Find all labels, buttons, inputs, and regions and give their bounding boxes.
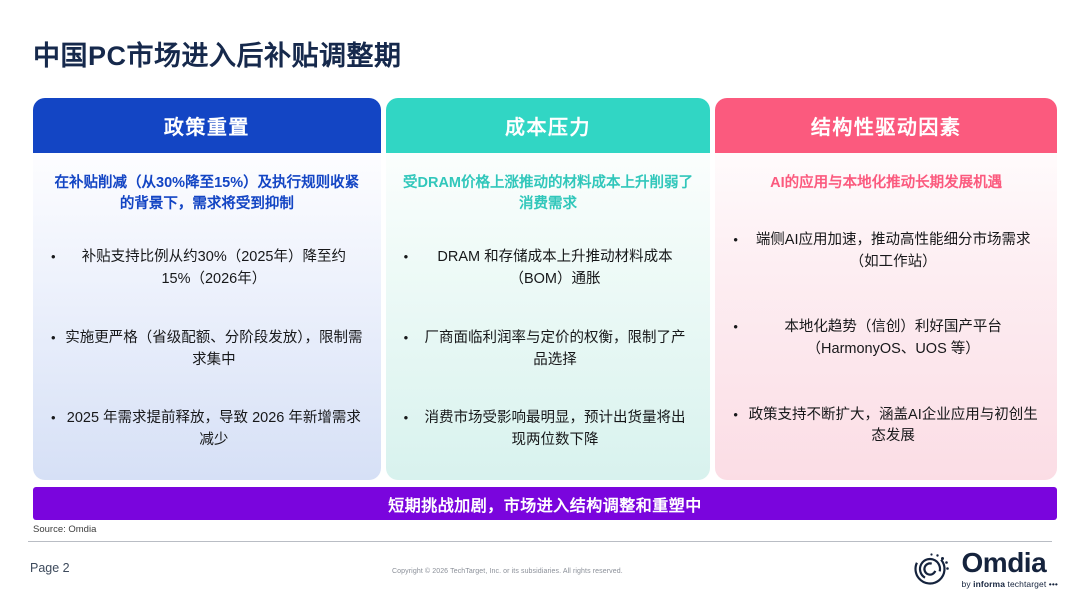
page-title: 中国PC市场进入后补贴调整期	[33, 34, 402, 73]
list-item: • 补贴支持比例从约30%（2025年）降至约15%（2026年）	[47, 247, 367, 291]
list-item: • 实施更严格（省级配额、分阶段发放），限制需求集中	[47, 328, 367, 372]
bullet-icon: •	[51, 408, 65, 428]
list-item-text: 实施更严格（省级配额、分阶段发放），限制需求集中	[65, 328, 363, 372]
list-item-text: 端侧AI应用加速，推动高性能细分市场需求（如工作站）	[747, 230, 1039, 274]
bullet-icon: •	[51, 328, 65, 348]
slide-canvas: 中国PC市场进入后补贴调整期 政策重置 在补贴削减（从30%降至15%）及执行规…	[0, 0, 1080, 608]
card-body-1: 在补贴削减（从30%降至15%）及执行规则收紧的背景下，需求将受到抑制 • 补贴…	[33, 153, 381, 480]
list-item-text: 2025 年需求提前释放，导致 2026 年新增需求减少	[65, 408, 363, 452]
copyright-notice: Copyright © 2026 TechTarget, Inc. or its…	[392, 568, 623, 575]
bullet-icon: •	[733, 230, 747, 250]
list-item: • 消费市场受影响最明显，预计出货量将出现两位数下降	[400, 408, 697, 452]
list-item-text: 消费市场受影响最明显，预计出货量将出现两位数下降	[418, 408, 693, 452]
bullet-icon: •	[733, 405, 747, 425]
bullet-icon: •	[51, 247, 65, 267]
omdia-tagline-suffix: techtarget	[1005, 579, 1046, 589]
card-header-2: 成本压力	[386, 98, 711, 153]
card-policy-reset: 政策重置 在补贴削减（从30%降至15%）及执行规则收紧的背景下，需求将受到抑制…	[33, 98, 381, 480]
bullet-icon: •	[404, 247, 418, 267]
omdia-wordmark: Omdia by informa techtarget •••	[962, 549, 1058, 589]
source-label: Source: Omdia	[33, 524, 96, 535]
card-header-1: 政策重置	[33, 98, 381, 153]
summary-banner: 短期挑战加剧，市场进入结构调整和重塑中	[33, 487, 1057, 520]
bullet-icon: •	[404, 328, 418, 348]
card-header-3: 结构性驱动因素	[715, 98, 1057, 153]
list-item: • 厂商面临利润率与定价的权衡，限制了产品选择	[400, 328, 697, 372]
card-subtitle-2: 受DRAM价格上涨推动的材料成本上升削弱了消费需求	[402, 173, 695, 215]
list-item: • 端侧AI应用加速，推动高性能细分市场需求（如工作站）	[729, 230, 1043, 274]
bullet-icon: •	[733, 317, 747, 337]
list-item: • 本地化趋势（信创）利好国产平台（HarmonyOS、UOS 等）	[729, 317, 1043, 361]
card-body-3: AI的应用与本地化推动长期发展机遇 • 端侧AI应用加速，推动高性能细分市场需求…	[715, 153, 1057, 480]
card-body-2: 受DRAM价格上涨推动的材料成本上升削弱了消费需求 • DRAM 和存储成本上升…	[386, 153, 711, 480]
list-item: • 政策支持不断扩大，涵盖AI企业应用与初创生态发展	[729, 405, 1043, 449]
list-item: • 2025 年需求提前释放，导致 2026 年新增需求减少	[47, 408, 367, 452]
card-subtitle-1: 在补贴削减（从30%降至15%）及执行规则收紧的背景下，需求将受到抑制	[49, 173, 365, 215]
cards-row: 政策重置 在补贴削减（从30%降至15%）及执行规则收紧的背景下，需求将受到抑制…	[33, 98, 1057, 480]
card-bullets-1: • 补贴支持比例从约30%（2025年）降至约15%（2026年） • 实施更严…	[47, 229, 367, 470]
omdia-tagline-by: by	[962, 579, 974, 589]
card-bullets-3: • 端侧AI应用加速，推动高性能细分市场需求（如工作站） • 本地化趋势（信创）…	[729, 208, 1043, 470]
card-subtitle-3: AI的应用与本地化推动长期发展机遇	[731, 173, 1041, 194]
list-item-text: 本地化趋势（信创）利好国产平台（HarmonyOS、UOS 等）	[747, 317, 1039, 361]
card-bullets-2: • DRAM 和存储成本上升推动材料成本（BOM）通胀 • 厂商面临利润率与定价…	[400, 229, 697, 470]
footer-divider	[28, 541, 1052, 542]
list-item: • DRAM 和存储成本上升推动材料成本（BOM）通胀	[400, 247, 697, 291]
list-item-text: 厂商面临利润率与定价的权衡，限制了产品选择	[418, 328, 693, 372]
omdia-tagline-brand: informa	[973, 579, 1005, 589]
list-item-text: 政策支持不断扩大，涵盖AI企业应用与初创生态发展	[747, 405, 1039, 449]
list-item-text: DRAM 和存储成本上升推动材料成本（BOM）通胀	[418, 247, 693, 291]
omdia-dots-icon: •••	[1049, 579, 1058, 589]
omdia-tagline: by informa techtarget •••	[962, 580, 1058, 589]
omdia-name: Omdia	[962, 549, 1058, 577]
card-cost-pressure: 成本压力 受DRAM价格上涨推动的材料成本上升削弱了消费需求 • DRAM 和存…	[386, 98, 711, 480]
omdia-logo: Omdia by informa techtarget •••	[911, 548, 1058, 590]
omdia-swirl-icon	[911, 548, 953, 590]
page-number: Page 2	[30, 561, 70, 575]
card-structural-drivers: 结构性驱动因素 AI的应用与本地化推动长期发展机遇 • 端侧AI应用加速，推动高…	[715, 98, 1057, 480]
list-item-text: 补贴支持比例从约30%（2025年）降至约15%（2026年）	[65, 247, 363, 291]
bullet-icon: •	[404, 408, 418, 428]
